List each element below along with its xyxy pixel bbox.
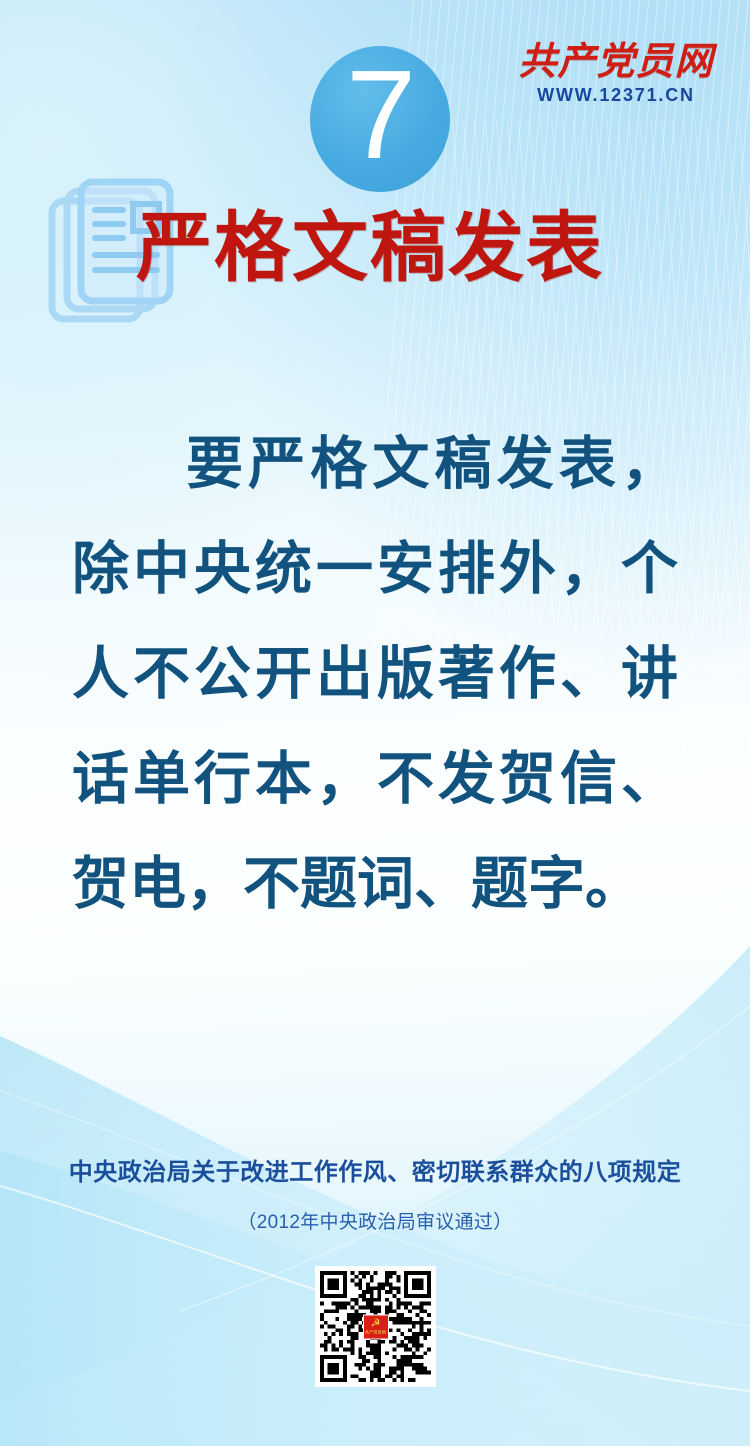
- step-number-value: 7: [346, 52, 414, 178]
- qr-code[interactable]: ☭ 共产党员网: [315, 1266, 436, 1387]
- site-logo-name: 共产党员网: [518, 40, 714, 84]
- qr-emblem-label: 共产党员网: [365, 1330, 386, 1335]
- site-logo[interactable]: 共产党员网 WWW.12371.CN: [518, 40, 714, 106]
- body-paragraph: 要严格文稿发表，除中央统一安排外，个人不公开出版著作、讲话单行本，不发贺信、贺电…: [72, 412, 678, 937]
- poster-canvas: 7 共产党员网 WWW.12371.CN 严格文稿发表 要严格文稿发表，除中央统…: [0, 0, 750, 1446]
- site-logo-url: WWW.12371.CN: [518, 85, 714, 106]
- qr-emblem-glyph: ☭: [371, 1319, 381, 1330]
- qr-center-emblem: ☭ 共产党员网: [363, 1314, 389, 1339]
- page-title: 严格文稿发表: [136, 206, 604, 290]
- step-number-badge: 7: [310, 46, 450, 192]
- adoption-note: （2012年中央政治局审议通过）: [0, 1207, 750, 1234]
- regulation-title: 中央政治局关于改进工作作风、密切联系群众的八项规定: [0, 1152, 750, 1187]
